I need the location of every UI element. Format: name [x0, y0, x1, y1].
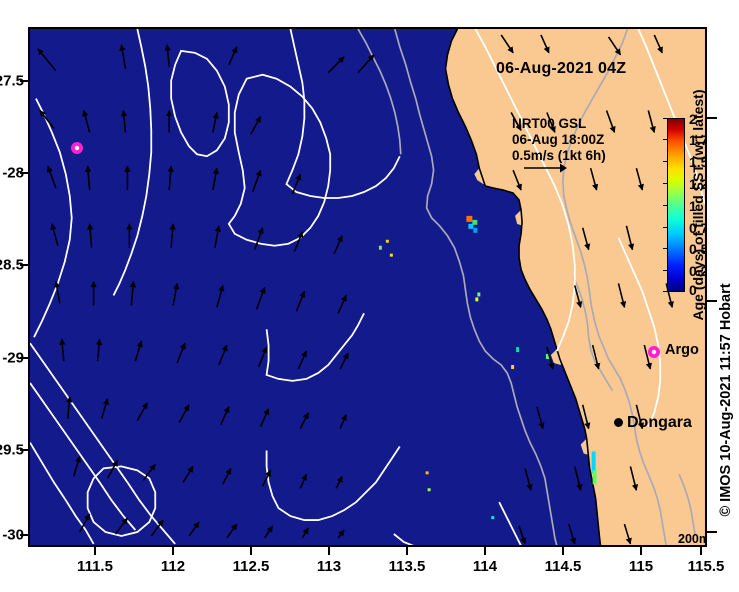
x-axis-label: 115.5	[688, 558, 725, 575]
x-axis-label: 111.5	[77, 558, 113, 575]
right-axis-tick	[707, 300, 717, 302]
dongara-place-label: Dongara	[627, 414, 692, 432]
x-axis-tick	[328, 547, 330, 555]
y-axis-label: -27.5	[0, 73, 24, 90]
colorbar-tick	[663, 161, 668, 162]
date-stamp: 06-Aug-2021 04Z	[496, 60, 626, 78]
colorbar: 2 1.75 1.5 1.25 1 0.75 0.5 0.25 0	[667, 118, 685, 292]
map-plot-area: 06-Aug-2021 04Z NRT00 GSL 06-Aug 18:00Z …	[28, 27, 707, 547]
colorbar-gradient	[667, 118, 685, 292]
x-axis-label: 112	[161, 558, 185, 575]
colorbar-tick	[663, 183, 668, 184]
dongara-place-dot	[614, 418, 623, 427]
x-axis-tick	[406, 547, 408, 555]
depth-key-200m: 200m	[678, 532, 707, 546]
y-axis-label: -28.5	[0, 257, 24, 274]
colorbar-tick	[663, 118, 668, 119]
surface-current-vectors	[30, 29, 705, 546]
x-axis-label: 112.5	[233, 558, 270, 575]
colorbar-tick	[663, 291, 668, 292]
current-legend-time: 06-Aug 18:00Z	[512, 132, 606, 148]
colorbar-tick	[663, 270, 668, 271]
y-axis-label: -29.5	[0, 442, 24, 459]
argo-float-marker-icon[interactable]	[70, 141, 84, 155]
x-axis-tick	[562, 547, 564, 555]
colorbar-title: Age (days) of filled SST (wrt latest)	[690, 89, 706, 320]
x-axis-label: 114.5	[545, 558, 582, 575]
x-axis-tick	[172, 547, 174, 555]
depth-key-1000m: 1000m	[678, 546, 707, 547]
x-axis-label: 114	[473, 558, 497, 575]
copyright-notice: © IMOS 10-Aug-2021 11:57 Hobart	[718, 283, 734, 516]
current-legend-product: NRT00 GSL	[512, 116, 606, 132]
right-axis-tick	[707, 117, 717, 119]
x-axis-label: 113	[317, 558, 341, 575]
x-axis-tick	[640, 547, 642, 555]
x-axis-tick	[250, 547, 252, 555]
x-axis-label: 113.5	[389, 558, 426, 575]
y-axis-label: -30	[2, 527, 24, 544]
right-axis-tick	[707, 531, 717, 533]
x-axis-tick	[484, 547, 486, 555]
colorbar-tick	[663, 248, 668, 249]
y-axis-label: -28	[2, 165, 24, 182]
current-vector-legend: NRT00 GSL 06-Aug 18:00Z 0.5m/s (1kt 6h)	[512, 116, 606, 164]
colorbar-tick	[663, 227, 668, 228]
depth-contour-key: 200m 1000m	[678, 532, 707, 547]
x-axis-label: 115	[629, 558, 653, 575]
x-axis-tick	[700, 547, 702, 555]
colorbar-tick	[663, 205, 668, 206]
argo-legend-label: Argo	[665, 342, 699, 358]
x-axis-tick	[94, 547, 96, 555]
argo-float-marker-legend-icon[interactable]	[647, 345, 661, 359]
colorbar-tick	[663, 139, 668, 140]
right-arrow-icon	[524, 162, 568, 174]
y-axis-label: -29	[2, 350, 24, 367]
